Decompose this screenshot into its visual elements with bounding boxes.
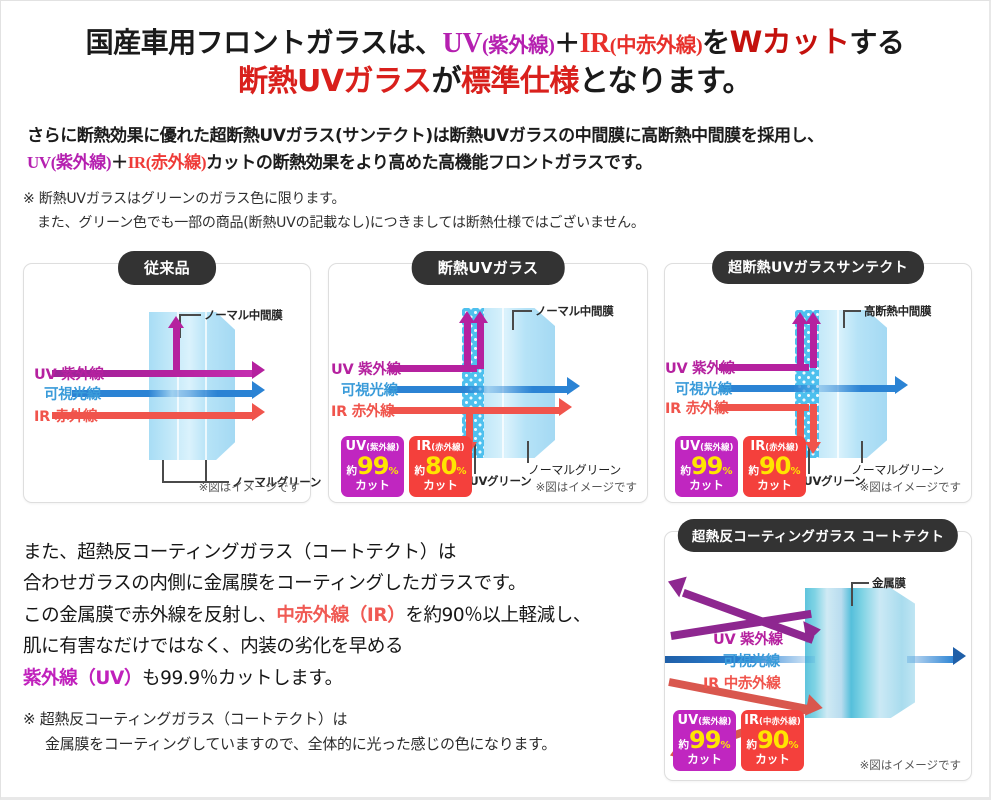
ray-ir-reflect-2 — [810, 404, 817, 444]
leader-metal-horizontal — [851, 582, 869, 584]
ray-ir — [719, 404, 809, 411]
note-green-glass: ※ 断熱UVガラスはグリーンのガラス色に限ります。 また、グリーン色でも一部の商… — [23, 187, 953, 235]
callout-normal-interlayer: ノーマル中間膜 — [204, 307, 282, 323]
badge-ir-approx: 約 — [415, 466, 426, 477]
note2-line-1: ※ 超熱反コーティングガラス（コートテクト）は — [23, 710, 347, 728]
badge-ir-cut: カット — [411, 480, 470, 492]
badge-uv-percent: % — [722, 467, 732, 477]
headline-uv: UV — [443, 28, 482, 59]
headline-standard: 標準仕様 — [461, 64, 579, 99]
badge-ir-value: 約80% — [411, 454, 470, 478]
coattect-paragraph: また、超熱反コーティングガラス（コートテクト）は 合わせガラスの内側に金属膜をコ… — [23, 537, 663, 694]
card-suntect-diagram: 高断熱中間膜 ノーマルグリーン 断熱UVグリーン UV 紫外線 — [665, 264, 971, 502]
card-coattect-diagram: 金属膜 UV 紫外線 可視光線 IR 中赤外線 UV(紫外線) — [665, 532, 971, 780]
badge-ir: IR(赤外線) 約80% カット — [409, 436, 472, 497]
callout-normal-green: ノーマルグリーン — [528, 461, 621, 478]
badge-uv: UV(紫外線) 約99% カット — [675, 436, 738, 497]
badge-ir-value: 約90% — [745, 454, 804, 478]
headline-wcut: Wカット — [730, 24, 850, 59]
glass-seam-2 — [205, 312, 207, 460]
note1-line-2: また、グリーン色でも一部の商品(断熱UVの記載なし)につきましては断熱仕様ではご… — [23, 211, 953, 235]
label-uv: UV 紫外線 — [331, 358, 401, 379]
coattect-line-3-b: を約90％以上軽減し、 — [405, 605, 591, 626]
badge-uv-number: 99 — [689, 728, 720, 752]
label-visible: 可視光線 — [675, 378, 732, 399]
headline: 国産車用フロントガラスは、UV(紫外線)＋IR(中赤外線)をWカットする 断熱U… — [1, 23, 989, 101]
badge-ir-approx: 約 — [747, 740, 758, 751]
ray-uv-reflect-1 — [464, 321, 471, 369]
label-ir: IR 赤外線 — [665, 397, 728, 418]
badge-group: UV(紫外線) 約99% カット IR(中赤外線) 約90% カット — [673, 710, 804, 771]
badge-uv: UV(紫外線) 約99% カット — [673, 710, 736, 771]
card-coattect-glass: 超熱反コーティングガラス コートテクト 金属膜 — [664, 531, 972, 781]
coattect-line-5: 紫外線（UV）も99.9％カットします。 — [23, 663, 663, 694]
coattect-line-5-b: も99.9％カットします。 — [142, 668, 343, 689]
badge-ir-approx: 約 — [749, 466, 760, 477]
badge-ir-number: 90 — [757, 728, 788, 752]
intro-rest: カットの断熱効果をより高めた高機能フロントガラスです。 — [206, 153, 652, 173]
badge-ir-percent: % — [456, 467, 466, 477]
ray-visible-arrowhead — [895, 376, 908, 394]
headline-line-1: 国産車用フロントガラスは、UV(紫外線)＋IR(中赤外線)をWカットする — [1, 23, 989, 62]
coattect-line-3-a: この金属膜で赤外線を反射し、 — [23, 605, 276, 626]
leader-green-tick — [527, 441, 529, 463]
badge-ir: IR(中赤外線) 約90% カット — [741, 710, 804, 771]
leader-line-horizontal-top — [512, 310, 532, 312]
ray-visible-arrowhead — [567, 377, 580, 395]
coattect-uv-highlight: 紫外線（UV） — [23, 668, 142, 689]
leader-line-vertical-top — [512, 310, 514, 330]
ray-ir — [389, 407, 561, 414]
callout-normal-interlayer: ノーマル中間膜 — [535, 303, 613, 319]
callout-metal-film: 金属膜 — [872, 575, 906, 591]
ray-visible — [719, 385, 897, 392]
badge-uv-approx: 約 — [347, 466, 358, 477]
badge-uv-value: 約99% — [343, 454, 402, 478]
headline-ir: IR — [580, 28, 610, 59]
card-heat-shield-uv-glass: 断熱UVガラス ノーマル中間膜 ノーマルグリーン 断熱UVグリーン — [328, 263, 648, 503]
ray-uv-branch-arrowhead — [168, 316, 184, 328]
leader-line-horizontal-top — [843, 310, 861, 312]
badge-ir-percent: % — [788, 741, 798, 751]
coattect-ir-highlight: 中赤外線（IR） — [276, 605, 405, 626]
leader-metal-vertical — [851, 582, 853, 606]
ray-uv-reflect-2 — [810, 322, 817, 368]
ray-uv-arrowhead — [252, 361, 265, 379]
label-ir: IR 赤外線 — [34, 405, 97, 426]
glass-slab-body — [149, 312, 235, 460]
badge-uv-percent: % — [388, 467, 398, 477]
label-uv: UV 紫外線 — [713, 628, 783, 649]
coattect-line-2: 合わせガラスの内側に金属膜をコーティングしたガラスです。 — [23, 568, 663, 599]
badge-ir-value: 約90% — [743, 728, 802, 752]
label-uv: UV 紫外線 — [665, 357, 735, 378]
glass-seam-1 — [502, 308, 504, 458]
note2-line-2: 金属膜をコーティングしていますので、全体的に光った感じの色になります。 — [23, 732, 663, 757]
image-disclaimer: ※図はイメージです — [536, 479, 637, 495]
intro-paragraph: さらに断熱効果に優れた超断熱UVガラス(サンテクト)は断熱UVガラスの中間膜に高… — [27, 123, 977, 177]
card-legacy-glass: 従来品 ノーマル中間膜 ノーマルグリーン — [23, 263, 311, 503]
badge-uv-value: 約99% — [677, 454, 736, 478]
image-disclaimer: ※図はイメージです — [860, 479, 961, 495]
badge-uv-cut: カット — [343, 480, 402, 492]
leader-green-tick — [861, 441, 863, 463]
card-legacy-diagram: ノーマル中間膜 ノーマルグリーン UV 紫外線 可視光線 IR 赤外線 ※図はイ… — [24, 264, 310, 502]
leader-line-vertical-top — [843, 310, 845, 328]
ray-visible — [389, 386, 569, 393]
ray-uv-reflect-2-arrowhead — [805, 312, 821, 324]
glass-slab — [149, 312, 235, 460]
ray-uv-branch-up — [173, 326, 180, 374]
badge-uv-approx: 約 — [681, 466, 692, 477]
headline-line-2: 断熱UVガラスが標準仕様となります。 — [1, 62, 989, 101]
image-disclaimer: ※図はイメージです — [199, 479, 300, 495]
label-uv: UV 紫外線 — [34, 363, 104, 384]
card-suntect-glass: 超断熱UVガラスサンテクト 高断熱中間膜 ノーマルグリーン 断熱UVグリーン — [664, 263, 972, 503]
label-visible: 可視光線 — [341, 379, 398, 400]
ray-ir-arrowhead — [252, 403, 265, 421]
headline-text-a: 国産車用フロントガラスは、 — [86, 26, 443, 59]
label-visible: 可視光線 — [44, 383, 101, 404]
badge-uv-cut: カット — [677, 480, 736, 492]
headline-text-e: となります。 — [579, 64, 752, 99]
badge-ir-cut: カット — [745, 480, 804, 492]
note-coattect: ※ 超熱反コーティングガラス（コートテクト）は 金属膜をコーティングしていますの… — [23, 707, 663, 757]
badge-uv-value: 約99% — [675, 728, 734, 752]
label-visible: 可視光線 — [723, 650, 780, 671]
badge-uv-number: 99 — [357, 454, 388, 478]
image-disclaimer: ※図はイメージです — [860, 757, 961, 773]
headline-text-c: する — [849, 26, 904, 59]
coattect-line-1: また、超熱反コーティングガラス（コートテクト）は — [23, 537, 663, 568]
badge-uv: UV(紫外線) 約99% カット — [341, 436, 404, 497]
headline-ir-sub: (中赤外線) — [610, 35, 702, 57]
ray-visible-arrowhead — [252, 381, 265, 399]
headline-text-d: が — [431, 64, 461, 99]
intro-ir: IR(赤外線) — [128, 153, 206, 172]
intro-plus: ＋ — [111, 153, 128, 173]
badge-ir: IR(赤外線) 約90% カット — [743, 436, 806, 497]
intro-line-1: さらに断熱効果に優れた超断熱UVガラス(サンテクト)は断熱UVガラスの中間膜に高… — [27, 123, 977, 150]
intro-line-2: UV(紫外線)＋IR(赤外線)カットの断熱効果をより高めた高機能フロントガラスで… — [27, 150, 977, 177]
badge-uv-approx: 約 — [679, 740, 690, 751]
intro-uv: UV(紫外線) — [27, 153, 111, 172]
badge-uv-cut: カット — [675, 754, 734, 766]
infographic-root: 国産車用フロントガラスは、UV(紫外線)＋IR(中赤外線)をWカットする 断熱U… — [0, 0, 991, 800]
badge-uv-number: 99 — [691, 454, 722, 478]
ray-uv-reflect-2-arrowhead — [472, 311, 488, 323]
ray-uv-reflect-2 — [477, 321, 484, 369]
headline-uv-sub: (紫外線) — [482, 35, 554, 57]
badge-group: UV(紫外線) 約99% カット IR(赤外線) 約90% カット — [675, 436, 806, 497]
coattect-line-3: この金属膜で赤外線を反射し、中赤外線（IR）を約90％以上軽減し、 — [23, 600, 663, 631]
badge-ir-number: 90 — [759, 454, 790, 478]
badge-ir-number: 80 — [425, 454, 456, 478]
headline-plus: ＋ — [554, 29, 579, 59]
label-ir: IR 赤外線 — [331, 400, 394, 421]
card-uvglass-diagram: ノーマル中間膜 ノーマルグリーン 断熱UVグリーン UV 紫外線 可視光線 — [329, 264, 647, 502]
ray-visible-arrowhead — [953, 647, 966, 665]
ray-visible-out — [907, 656, 955, 663]
badge-ir-cut: カット — [743, 754, 802, 766]
note1-line-1: ※ 断熱UVガラスはグリーンのガラス色に限ります。 — [23, 191, 345, 207]
headline-text-b: を — [702, 26, 730, 59]
callout-high-heat-interlayer: 高断熱中間膜 — [864, 303, 931, 319]
ray-uv-reflect-1 — [797, 322, 804, 368]
badge-ir-percent: % — [790, 467, 800, 477]
glass-seam-1 — [837, 310, 839, 458]
ray-ir-reflect-2-arrowhead — [805, 442, 821, 454]
badge-uv-percent: % — [720, 741, 730, 751]
coattect-line-4: 肌に有害なだけではなく、内装の劣化を早める — [23, 631, 663, 662]
leader-bottom-tick-1 — [162, 460, 164, 482]
label-ir: IR 中赤外線 — [703, 672, 781, 693]
badge-group: UV(紫外線) 約99% カット IR(赤外線) 約80% カット — [341, 436, 472, 497]
ray-ir-arrowhead — [559, 398, 572, 416]
headline-product: 断熱UVガラス — [238, 64, 431, 99]
